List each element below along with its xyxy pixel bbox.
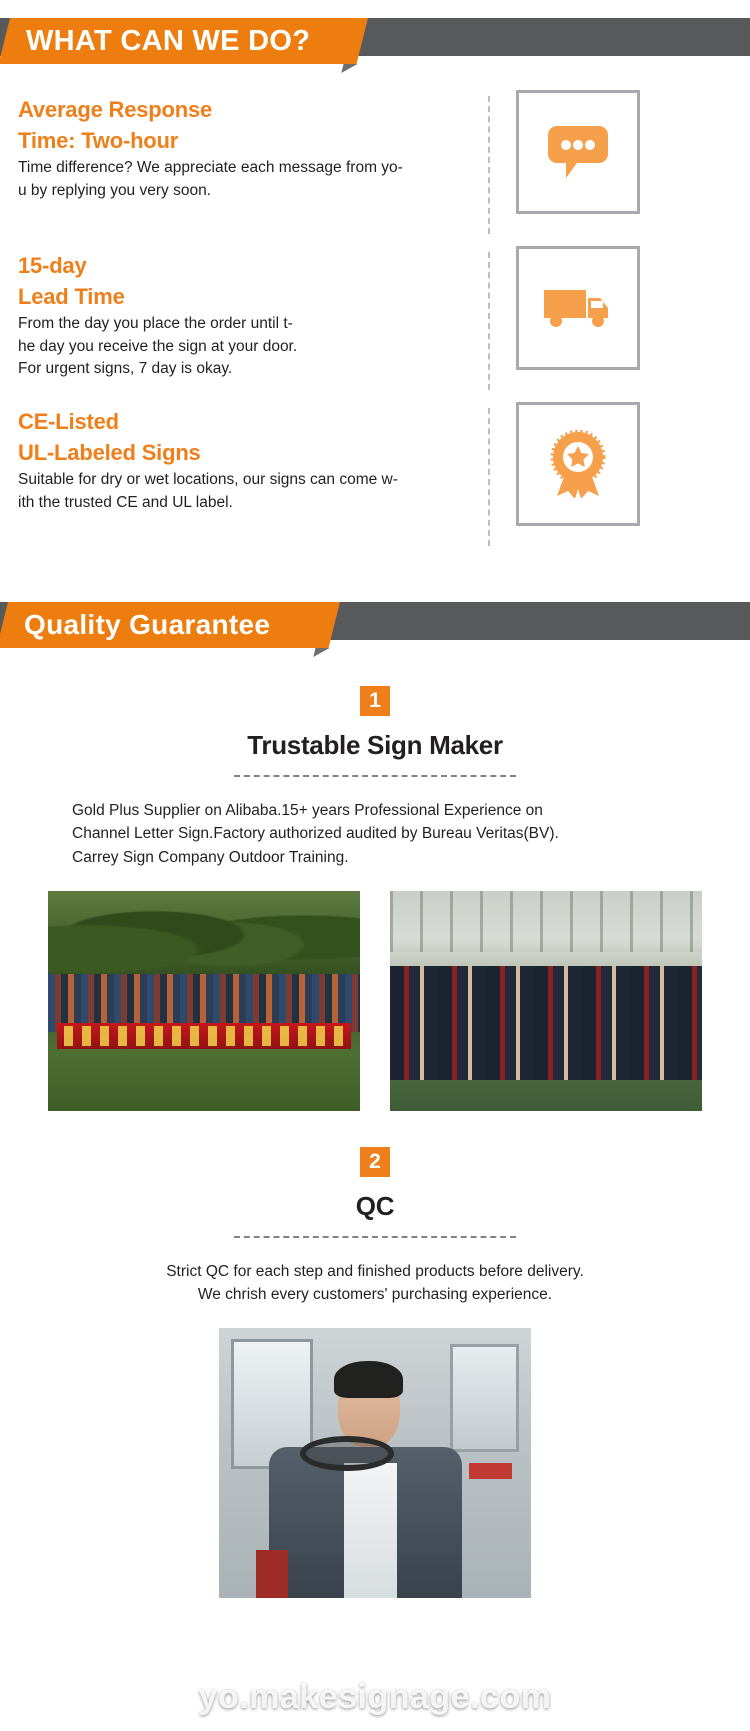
- feature-title: Average Response Time: Two-hour: [18, 94, 480, 156]
- feature-title: 15-day Lead Time: [18, 250, 480, 312]
- dashed-divider: [488, 252, 490, 390]
- quality-block-trustable-sign-maker: 1 Trustable Sign Maker Gold Plus Supplie…: [0, 686, 750, 1111]
- block-body: Gold Plus Supplier on Alibaba.15+ years …: [0, 799, 750, 869]
- feature-desc-line-2: ith the trusted CE and UL label.: [18, 492, 480, 514]
- feature-desc-line-2: he day you receive the sign at your door…: [18, 336, 480, 358]
- banner-title-quality-guarantee: Quality Guarantee: [24, 602, 270, 648]
- feature-title-line-1: CE-Listed: [18, 406, 480, 437]
- feature-icon-box: [516, 402, 640, 526]
- block-number-badge: 2: [360, 1147, 390, 1177]
- feature-desc-line-3: For urgent signs, 7 day is okay.: [18, 358, 480, 380]
- feature-description: Suitable for dry or wet locations, our s…: [18, 469, 480, 514]
- block-title: QC: [0, 1191, 750, 1222]
- block-number-badge: 1: [360, 686, 390, 716]
- chat-bubble-icon: [547, 124, 609, 180]
- dashed-divider: [488, 96, 490, 234]
- feature-desc-line-2: u by replying you very soon.: [18, 180, 480, 202]
- feature-title-line-1: 15-day: [18, 250, 480, 281]
- block-body-line-2: Channel Letter Sign.Factory authorized a…: [72, 822, 678, 845]
- qc-inspector-photo: [219, 1328, 531, 1598]
- dashed-rule: [234, 1236, 516, 1238]
- feature-desc-line-1: Time difference? We appreciate each mess…: [18, 157, 480, 179]
- feature-title-line-2: Time: Two-hour: [18, 125, 480, 156]
- feature-row-certification: CE-Listed UL-Labeled Signs Suitable for …: [0, 402, 750, 552]
- block-body-line-1: Gold Plus Supplier on Alibaba.15+ years …: [72, 799, 678, 822]
- block-body: Strict QC for each step and finished pro…: [0, 1260, 750, 1307]
- dashed-rule: [234, 775, 516, 777]
- block-body-line-2: We chrish every customers' purchasing ex…: [60, 1283, 690, 1306]
- feature-icon-box: [516, 246, 640, 370]
- feature-text-block: 15-day Lead Time From the day you place …: [18, 246, 480, 381]
- feature-text-block: Average Response Time: Two-hour Time dif…: [18, 90, 480, 202]
- outdoor-team-group-photo: [48, 891, 360, 1111]
- feature-desc-line-1: From the day you place the order until t…: [18, 313, 480, 335]
- feature-icon-box: [516, 90, 640, 214]
- site-watermark: yo.makesignage.com: [0, 1678, 750, 1717]
- feature-title: CE-Listed UL-Labeled Signs: [18, 406, 480, 468]
- feature-desc-line-1: Suitable for dry or wet locations, our s…: [18, 469, 480, 491]
- dashed-divider: [488, 408, 490, 546]
- award-badge-icon: [547, 430, 609, 498]
- quality-block-qc: 2 QC Strict QC for each step and finishe…: [0, 1147, 750, 1599]
- feature-row-lead-time: 15-day Lead Time From the day you place …: [0, 246, 750, 396]
- feature-row-response-time: Average Response Time: Two-hour Time dif…: [0, 90, 750, 240]
- factory-floor-team-photo: [390, 891, 702, 1111]
- feature-description: Time difference? We appreciate each mess…: [18, 157, 480, 202]
- feature-description: From the day you place the order until t…: [18, 313, 480, 380]
- feature-title-line-1: Average Response: [18, 94, 480, 125]
- feature-title-line-2: Lead Time: [18, 281, 480, 312]
- feature-title-line-2: UL-Labeled Signs: [18, 437, 480, 468]
- block-title: Trustable Sign Maker: [0, 730, 750, 761]
- product-detail-page: WHAT CAN WE DO? Average Response Time: T…: [0, 0, 750, 1731]
- section-banner-quality-guarantee: Quality Guarantee: [0, 602, 750, 648]
- banner-title-what-can-we-do: WHAT CAN WE DO?: [26, 18, 310, 64]
- photo-row: [0, 891, 750, 1111]
- delivery-truck-icon: [542, 284, 614, 332]
- features-list: Average Response Time: Two-hour Time dif…: [0, 90, 750, 552]
- section-banner-what-can-we-do: WHAT CAN WE DO?: [0, 18, 750, 64]
- block-body-line-3: Carrey Sign Company Outdoor Training.: [72, 846, 678, 869]
- feature-text-block: CE-Listed UL-Labeled Signs Suitable for …: [18, 402, 480, 514]
- block-body-line-1: Strict QC for each step and finished pro…: [60, 1260, 690, 1283]
